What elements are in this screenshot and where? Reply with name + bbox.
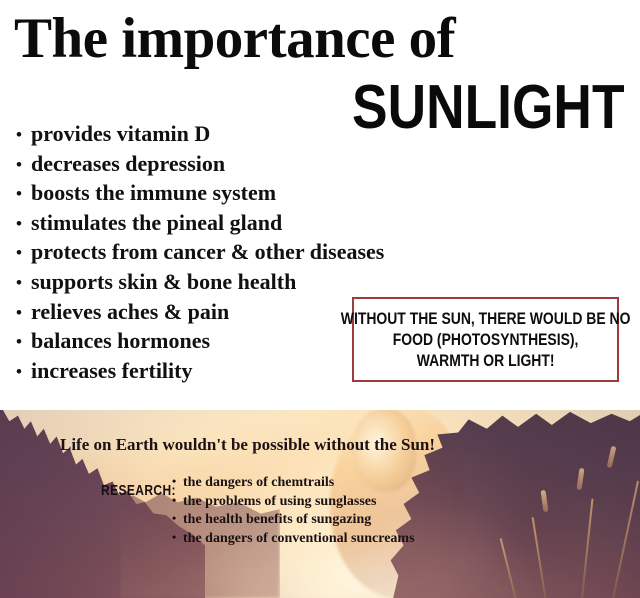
bullet-icon: • [172,529,183,547]
page-title-line1: The importance of [14,8,455,70]
research-text: the health benefits of sungazing [183,512,371,527]
photo-caption: Life on Earth wouldn't be possible witho… [60,435,435,455]
benefit-text: relieves aches & pain [31,299,229,324]
top-white-section: The importance of SUNLIGHT •provides vit… [0,0,640,410]
list-item: •stimulates the pineal gland [16,209,384,239]
list-item: •decreases depression [16,150,384,180]
list-item: •protects from cancer & other diseases [16,238,384,268]
research-text: the dangers of conventional suncreams [183,531,415,546]
bullet-icon: • [16,328,31,357]
benefit-text: supports skin & bone health [31,269,296,294]
page-title-line2-sunlight: SUNLIGHT [352,78,586,138]
bullet-icon: • [172,492,183,510]
list-item: •boosts the immune system [16,179,384,209]
sunlight-infographic-poster: The importance of SUNLIGHT •provides vit… [0,0,640,598]
research-text: the dangers of chemtrails [183,475,334,490]
bullet-icon: • [16,239,31,268]
bullet-icon: • [16,151,31,180]
list-item: •increases fertility [16,357,384,387]
research-text: the problems of using sunglasses [183,494,376,509]
bullet-icon: • [16,180,31,209]
list-item: •the dangers of conventional suncreams [172,529,415,548]
list-item: •the dangers of chemtrails [172,473,415,492]
sunset-photo-section: Life on Earth wouldn't be possible witho… [0,410,640,598]
bullet-icon: • [16,358,31,387]
quote-line-2: FOOD (PHOTOSYNTHESIS), [341,329,631,350]
list-item: •relieves aches & pain [16,298,384,328]
bullet-icon: • [16,210,31,239]
quote-line-1: WITHOUT THE SUN, THERE WOULD BE NO [341,308,631,329]
list-item: •provides vitamin D [16,120,384,150]
bullet-icon: • [172,473,183,491]
benefit-text: stimulates the pineal gland [31,210,282,235]
quote-line-3: WARMTH OR LIGHT! [341,350,631,371]
quote-callout-box: WITHOUT THE SUN, THERE WOULD BE NO FOOD … [352,297,619,382]
benefit-text: balances hormones [31,328,210,353]
bullet-icon: • [16,299,31,328]
benefit-text: decreases depression [31,151,225,176]
research-label: RESEARCH: [101,482,176,499]
research-list: •the dangers of chemtrails •the problems… [172,473,415,547]
benefit-text: provides vitamin D [31,121,210,146]
benefit-text: increases fertility [31,358,192,383]
list-item: •the health benefits of sungazing [172,510,415,529]
list-item: •the problems of using sunglasses [172,492,415,511]
list-item: •supports skin & bone health [16,268,384,298]
benefit-text: protects from cancer & other diseases [31,239,384,264]
bullet-icon: • [16,269,31,298]
bullet-icon: • [16,121,31,150]
benefit-text: boosts the immune system [31,180,276,205]
list-item: •balances hormones [16,327,384,357]
bullet-icon: • [172,510,183,528]
quote-callout-text: WITHOUT THE SUN, THERE WOULD BE NO FOOD … [341,308,631,371]
benefits-list: •provides vitamin D •decreases depressio… [16,120,384,386]
